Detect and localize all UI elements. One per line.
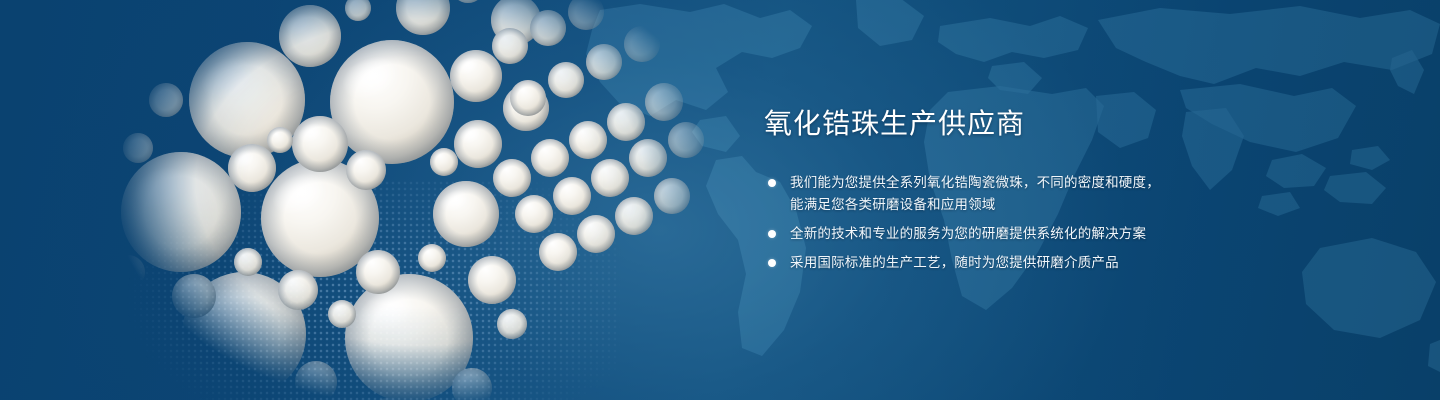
feature-bullet-list: 我们能为您提供全系列氧化锆陶瓷微珠，不同的密度和硬度， 能满足您各类研磨设备和应… bbox=[764, 172, 1284, 274]
bullet-text-line: 我们能为您提供全系列氧化锆陶瓷微珠，不同的密度和硬度， bbox=[790, 172, 1284, 194]
bullet-dot-icon bbox=[768, 259, 776, 267]
zirconia-beads-photo bbox=[120, 0, 760, 400]
list-item: 全新的技术和专业的服务为您的研磨提供系统化的解决方案 bbox=[764, 223, 1284, 245]
bullet-dot-icon bbox=[768, 179, 776, 187]
list-item: 采用国际标准的生产工艺，随时为您提供研磨介质产品 bbox=[764, 252, 1284, 274]
banner-copy: 氧化锆珠生产供应商 我们能为您提供全系列氧化锆陶瓷微珠，不同的密度和硬度， 能满… bbox=[764, 106, 1284, 274]
hero-banner: 氧化锆珠生产供应商 我们能为您提供全系列氧化锆陶瓷微珠，不同的密度和硬度， 能满… bbox=[0, 0, 1440, 400]
bullet-dot-icon bbox=[768, 230, 776, 238]
list-item: 我们能为您提供全系列氧化锆陶瓷微珠，不同的密度和硬度， 能满足您各类研磨设备和应… bbox=[764, 172, 1284, 216]
bullet-text-line: 采用国际标准的生产工艺，随时为您提供研磨介质产品 bbox=[790, 252, 1284, 274]
page-title: 氧化锆珠生产供应商 bbox=[764, 106, 1284, 142]
bullet-text-line: 能满足您各类研磨设备和应用领域 bbox=[790, 194, 1284, 216]
bullet-text-line: 全新的技术和专业的服务为您的研磨提供系统化的解决方案 bbox=[790, 223, 1284, 245]
